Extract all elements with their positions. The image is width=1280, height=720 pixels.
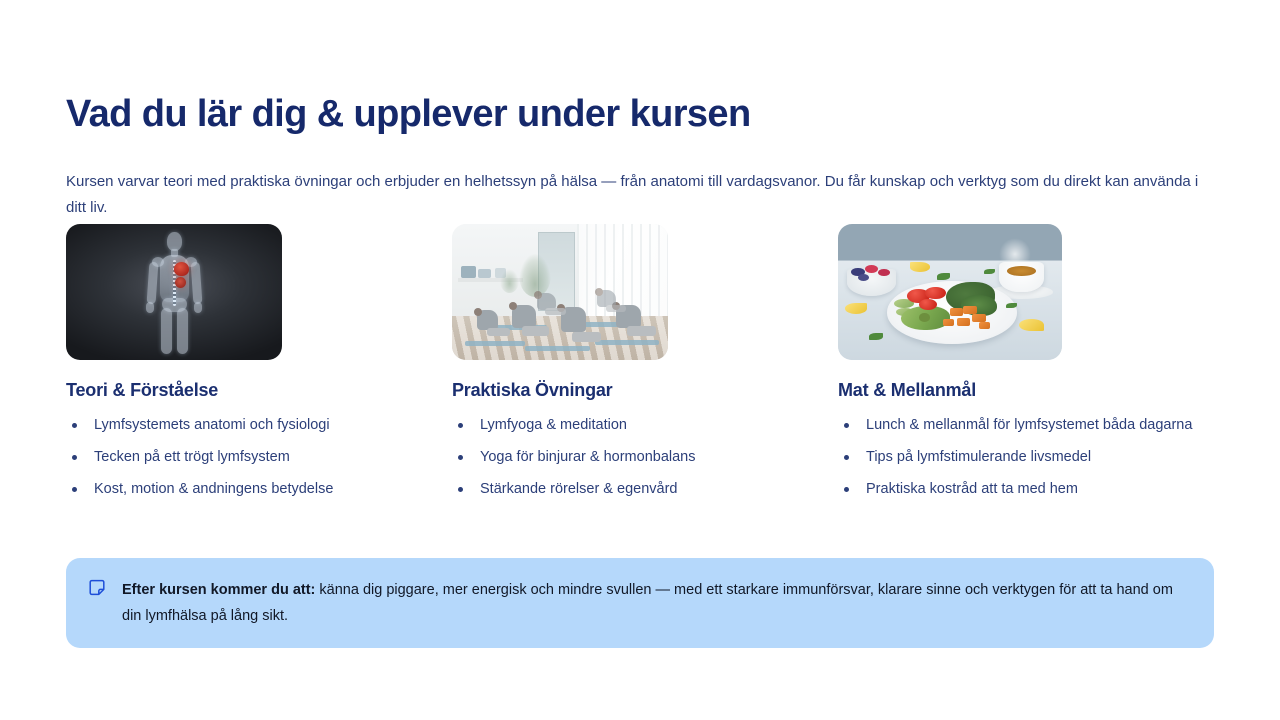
bullet-list-teori: Lymfsystemets anatomi och fysiologi Teck… (66, 415, 438, 500)
column-title-praktiska: Praktiska Övningar (452, 380, 824, 401)
list-item: Praktiska kostråd att ta med hem (838, 479, 1210, 500)
list-item: Kost, motion & andningens betydelse (66, 479, 438, 500)
anatomy-figure (131, 232, 217, 354)
list-item: Tips på lymfstimulerande livsmedel (838, 447, 1210, 468)
list-item: Stärkande rörelser & egenvård (452, 479, 824, 500)
bullet-list-mat: Lunch & mellanmål för lymfsystemet båda … (838, 415, 1210, 500)
food-berry (878, 269, 889, 276)
feature-column-mat: Mat & Mellanmål Lunch & mellanmål för ly… (838, 224, 1216, 511)
food-sweet-potato (957, 318, 970, 326)
feature-columns: Teori & Förståelse Lymfsystemets anatomi… (66, 224, 1216, 511)
food-sweet-potato (963, 306, 976, 314)
food-sweet-potato (950, 308, 963, 316)
list-item: Lunch & mellanmål för lymfsystemet båda … (838, 415, 1210, 436)
food-tomato (925, 287, 945, 299)
yoga-studio-image (452, 224, 668, 360)
food-herb (869, 333, 882, 340)
bullet-list-praktiska: Lymfyoga & meditation Yoga för binjurar … (452, 415, 824, 500)
food-lemon-wedge (910, 262, 930, 272)
anatomy-leg-right (177, 308, 188, 354)
food-sweet-potato (972, 314, 985, 322)
healthy-food-image (838, 224, 1062, 360)
feature-column-praktiska: Praktiska Övningar Lymfyoga & meditation… (452, 224, 830, 511)
anatomy-image (66, 224, 282, 360)
food-tomato (919, 299, 937, 310)
list-item: Lymfyoga & meditation (452, 415, 824, 436)
list-item: Tecken på ett trögt lymfsystem (66, 447, 438, 468)
callout-lead: Efter kursen kommer du att: (122, 582, 315, 598)
column-title-mat: Mat & Mellanmål (838, 380, 1210, 401)
food-tea-cup (999, 262, 1044, 292)
anatomy-hand-right (194, 302, 202, 313)
food-sweet-potato (979, 322, 990, 329)
feature-column-teori: Teori & Förståelse Lymfsystemets anatomi… (66, 224, 444, 511)
slide-root: Vad du lär dig & upplever under kursen K… (0, 0, 1280, 720)
food-sweet-potato (943, 319, 954, 326)
yoga-participant (525, 289, 568, 322)
intro-paragraph: Kursen varvar teori med praktiska övning… (66, 169, 1216, 221)
anatomy-arm-left (147, 262, 159, 305)
food-lemon-wedge (845, 303, 867, 314)
yoga-participant (586, 287, 629, 320)
food-lemon-wedge (1019, 319, 1044, 331)
yoga-block (478, 269, 491, 279)
callout-text: Efter kursen kommer du att: känna dig pi… (122, 577, 1188, 629)
anatomy-hand-left (146, 302, 154, 313)
yoga-block (461, 266, 476, 278)
anatomy-leg-left (161, 308, 172, 354)
page-title: Vad du lär dig & upplever under kursen (66, 93, 751, 137)
yoga-plant-small (500, 269, 519, 293)
food-steam (999, 238, 1030, 265)
anatomy-organ (175, 277, 186, 288)
outcome-callout: Efter kursen kommer du att: känna dig pi… (66, 558, 1214, 648)
anatomy-arm-right (191, 262, 203, 305)
anatomy-heart (174, 262, 189, 276)
list-item: Yoga för binjurar & hormonbalans (452, 447, 824, 468)
column-title-teori: Teori & Förståelse (66, 380, 438, 401)
food-herb (937, 273, 950, 280)
list-item: Lymfsystemets anatomi och fysiologi (66, 415, 438, 436)
note-icon (88, 579, 106, 597)
